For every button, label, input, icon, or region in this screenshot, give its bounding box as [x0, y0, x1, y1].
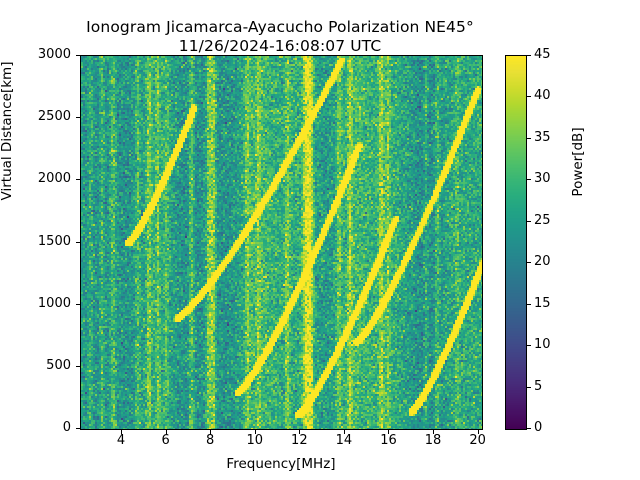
- colorbar-tick: [527, 221, 531, 222]
- y-axis-tick-label: 2500: [20, 110, 71, 123]
- y-axis-tick-label: 3000: [20, 48, 71, 61]
- colorbar-tick: [527, 262, 531, 263]
- colorbar-tick: [527, 55, 531, 56]
- y-axis-tick-label: 1500: [20, 235, 71, 248]
- colorbar-tick-label: 35: [534, 131, 551, 144]
- colorbar-tick-label: 20: [534, 255, 551, 268]
- x-axis-label: Frequency[MHz]: [80, 456, 482, 472]
- y-axis-tick: [76, 366, 80, 367]
- y-axis-tick: [76, 428, 80, 429]
- y-axis-tick-label: 500: [20, 359, 71, 372]
- figure-title: Ionogram Jicamarca-Ayacucho Polarization…: [0, 18, 560, 56]
- title-line-2: 11/26/2024-16:08:07 UTC: [179, 37, 382, 55]
- colorbar: [505, 55, 527, 430]
- x-axis-tick-label: 20: [448, 434, 508, 447]
- colorbar-tick-label: 10: [534, 338, 551, 351]
- y-axis-tick-label: 0: [20, 421, 71, 434]
- colorbar-tick-label: 5: [534, 380, 542, 393]
- colorbar-tick-label: 0: [534, 421, 542, 434]
- colorbar-tick-label: 15: [534, 297, 551, 310]
- colorbar-tick: [527, 428, 531, 429]
- y-axis-tick: [76, 304, 80, 305]
- colorbar-tick: [527, 345, 531, 346]
- colorbar-tick: [527, 304, 531, 305]
- plot-axes: [80, 55, 483, 430]
- colorbar-tick-label: 25: [534, 214, 551, 227]
- y-axis-label: Virtual Distance[km]: [0, 21, 15, 241]
- y-axis-tick-label: 2000: [20, 172, 71, 185]
- y-axis-tick-label: 1000: [20, 297, 71, 310]
- colorbar-tick: [527, 179, 531, 180]
- y-axis-tick: [76, 117, 80, 118]
- colorbar-tick-label: 30: [534, 172, 551, 185]
- colorbar-tick: [527, 96, 531, 97]
- colorbar-tick: [527, 387, 531, 388]
- colorbar-tick-label: 45: [534, 48, 551, 61]
- y-axis-tick: [76, 55, 80, 56]
- colorbar-tick: [527, 138, 531, 139]
- colorbar-gradient: [506, 56, 526, 429]
- y-axis-tick: [76, 242, 80, 243]
- ionogram-heatmap: [81, 56, 482, 429]
- title-line-1: Ionogram Jicamarca-Ayacucho Polarization…: [86, 18, 474, 36]
- y-axis-tick: [76, 179, 80, 180]
- ionogram-figure: Ionogram Jicamarca-Ayacucho Polarization…: [0, 0, 640, 480]
- colorbar-label: Power[dB]: [570, 82, 586, 242]
- colorbar-tick-label: 40: [534, 89, 551, 102]
